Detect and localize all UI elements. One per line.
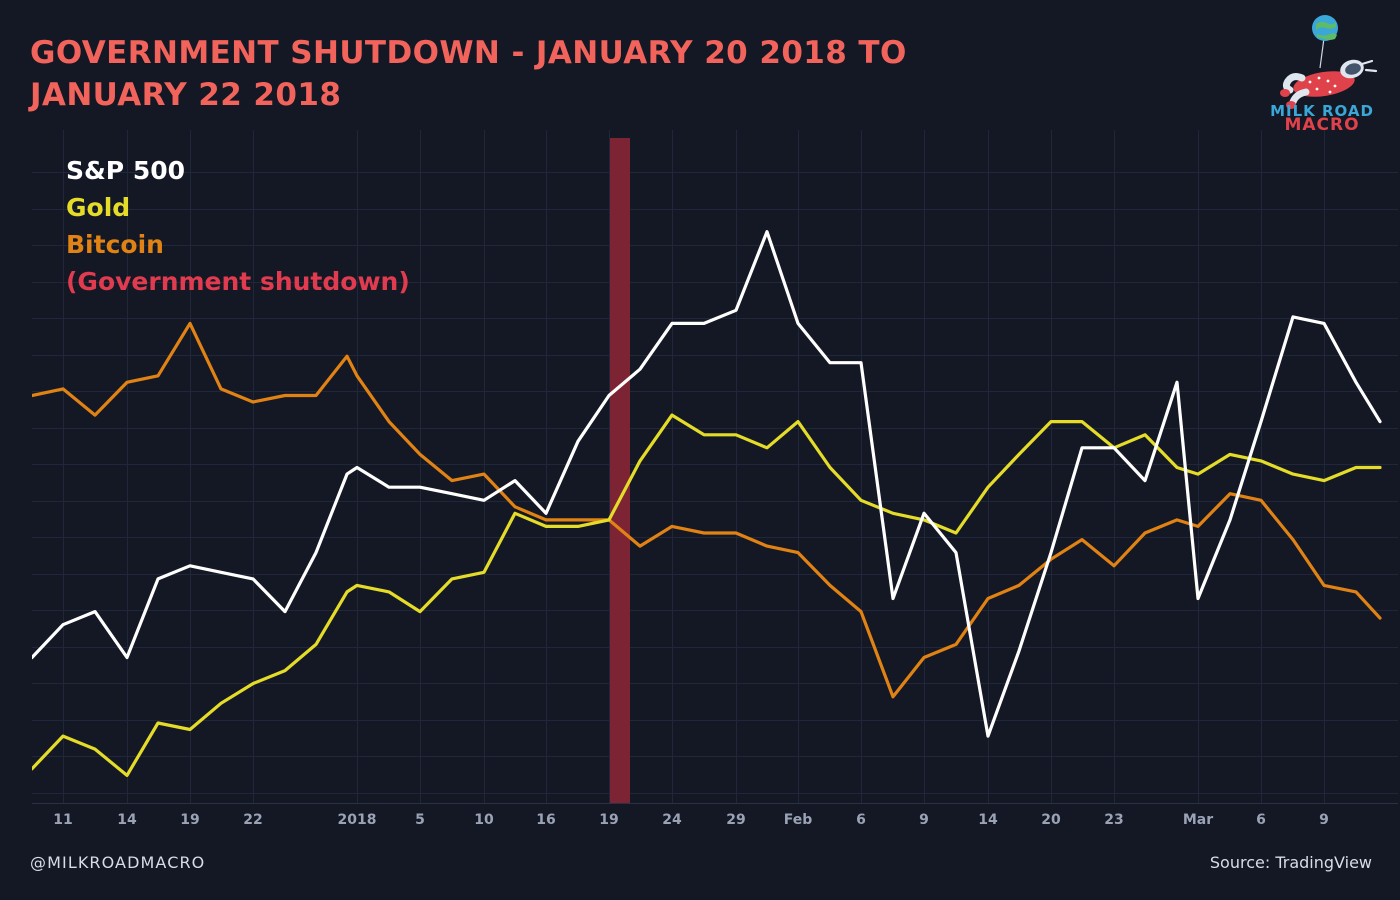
series-line-gold <box>32 415 1380 775</box>
social-handle: @MILKROADMACRO <box>30 853 205 872</box>
x-axis-tick-16: 16 <box>536 812 555 828</box>
x-axis-tick-9: 9 <box>919 812 929 828</box>
x-axis-tick-10: 10 <box>474 812 493 828</box>
x-axis-tick-feb: Feb <box>784 812 813 828</box>
x-axis-tick-9: 9 <box>1319 812 1329 828</box>
x-axis-tick-mar: Mar <box>1183 812 1213 828</box>
source-credit: Source: TradingView <box>1210 853 1372 872</box>
x-axis-tick-6: 6 <box>856 812 866 828</box>
x-axis-tick-24: 24 <box>662 812 681 828</box>
legend-item-bitcoin: Bitcoin <box>66 226 410 263</box>
x-axis-tick-14: 14 <box>978 812 997 828</box>
x-axis-tick-11: 11 <box>53 812 72 828</box>
legend-item-gold: Gold <box>66 189 410 226</box>
x-axis-tick-2018: 2018 <box>338 812 377 828</box>
chart-legend: S&P 500 Gold Bitcoin (Government shutdow… <box>66 152 410 300</box>
x-axis-labels: 11141922201851016192429Feb69142023Mar69 <box>0 812 1400 836</box>
title-block: GOVERNMENT SHUTDOWN - JANUARY 20 2018 TO… <box>30 32 1030 116</box>
legend-item-government-shutdown: (Government shutdown) <box>66 263 410 300</box>
x-axis-tick-19: 19 <box>599 812 618 828</box>
x-axis-tick-6: 6 <box>1256 812 1266 828</box>
x-axis-line <box>32 803 1398 804</box>
page-title: GOVERNMENT SHUTDOWN - JANUARY 20 2018 TO… <box>30 32 1030 116</box>
series-line-bitcoin <box>32 323 1380 696</box>
x-axis-tick-20: 20 <box>1041 812 1060 828</box>
series-line-sp500 <box>32 232 1380 736</box>
x-axis-tick-22: 22 <box>243 812 262 828</box>
x-axis-tick-5: 5 <box>415 812 425 828</box>
legend-item-sp500: S&P 500 <box>66 152 410 189</box>
x-axis-tick-19: 19 <box>180 812 199 828</box>
x-axis-tick-23: 23 <box>1104 812 1123 828</box>
x-axis-tick-29: 29 <box>726 812 745 828</box>
x-axis-tick-14: 14 <box>117 812 136 828</box>
milk-road-macro-logo: MILK ROAD MACRO <box>1262 6 1382 132</box>
